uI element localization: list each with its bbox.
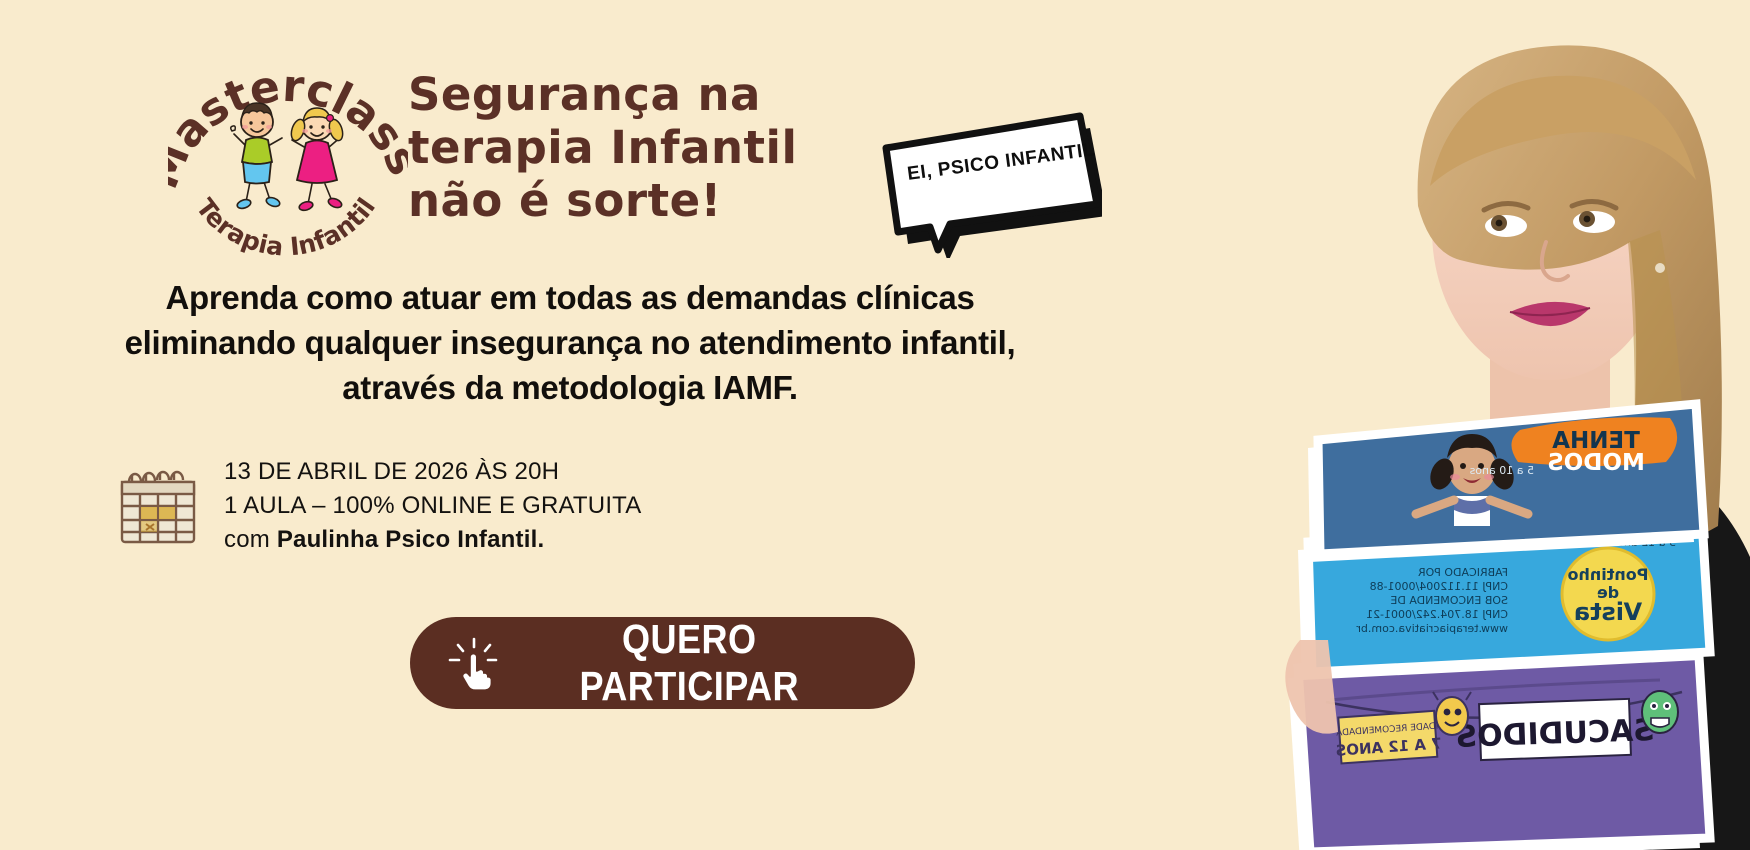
calendar-icon (110, 460, 206, 552)
instructor-photo: IDADE RECOMENDADA 7 A 12 ANOS SACUDIDOS (1190, 0, 1750, 850)
subhead-line-3: através da metodologia IAMF. (0, 365, 1140, 410)
event-details: 13 DE ABRIL DE 2026 ÀS 20H 1 AULA – 100%… (110, 455, 641, 557)
event-host-prefix: com (224, 526, 277, 553)
promo-banner: Masterclass (0, 0, 1750, 850)
event-detail-lines: 13 DE ABRIL DE 2026 ÀS 20H 1 AULA – 100%… (224, 455, 641, 557)
subhead-line-1: Aprenda como atuar em todas as demandas … (0, 275, 1140, 320)
svg-text:5 a 10 anos: 5 a 10 anos (1469, 464, 1534, 477)
two-children-illustration (222, 98, 357, 213)
svg-text:Vista: Vista (1574, 598, 1642, 626)
instructor-photo-illustration: IDADE RECOMENDADA 7 A 12 ANOS SACUDIDOS (1190, 0, 1750, 850)
masterclass-logo: Masterclass (168, 42, 408, 262)
subhead-line-2: eliminando qualquer insegurança no atend… (0, 320, 1140, 365)
subhead-paragraph: Aprenda como atuar em todas as demandas … (0, 275, 1140, 410)
quero-participar-label: QUERO PARTICIPAR (529, 616, 891, 710)
event-host-name: Paulinha Psico Infantil. (277, 526, 545, 553)
event-format: 1 AULA – 100% ONLINE E GRATUITA (224, 489, 641, 523)
quero-participar-button[interactable]: QUERO PARTICIPAR (410, 617, 915, 709)
event-date: 13 DE ABRIL DE 2026 ÀS 20H (224, 455, 641, 489)
event-host: com Paulinha Psico Infantil. (224, 523, 641, 557)
speech-bubble: EI, PSICO INFANTIL (872, 108, 1102, 258)
svg-text:MODOS: MODOS (1547, 450, 1645, 476)
svg-text:SACUDIDOS: SACUDIDOS (1455, 713, 1655, 755)
click-hand-icon (444, 633, 504, 693)
speech-bubble-shape (872, 108, 1102, 258)
svg-text:Pontinho: Pontinho (1567, 565, 1648, 584)
